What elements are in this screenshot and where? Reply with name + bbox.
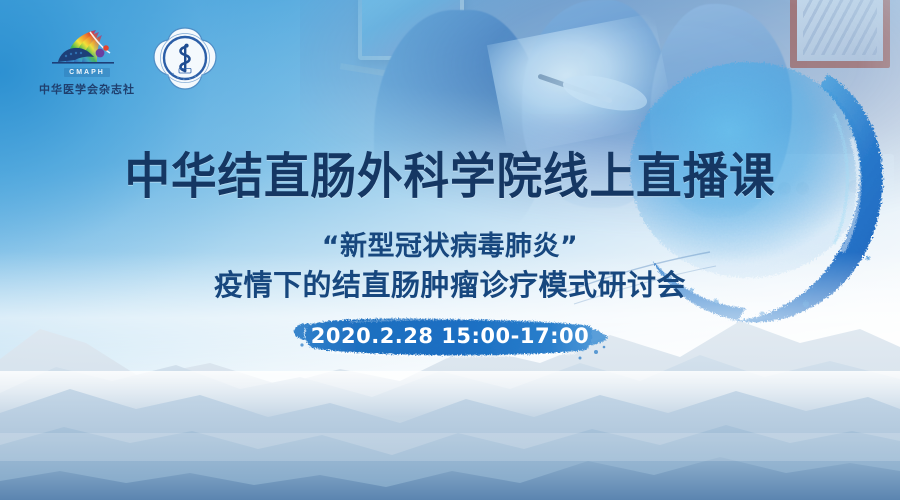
mountain-range: [0, 285, 900, 500]
logo-group: CMAPH 中华医学会杂志社: [44, 26, 218, 97]
webinar-poster: CMAPH 中华医学会杂志社: [0, 0, 900, 500]
academy-seal-logo: [152, 26, 218, 92]
cmaph-logo: CMAPH 中华医学会杂志社: [44, 26, 130, 97]
decorative-hairline-strokes: [560, 246, 740, 316]
cmaph-latin-text: CMAPH: [64, 68, 110, 77]
cmaph-chinese-text: 中华医学会杂志社: [39, 81, 135, 97]
cmaph-rainbow-mark: [44, 26, 130, 66]
